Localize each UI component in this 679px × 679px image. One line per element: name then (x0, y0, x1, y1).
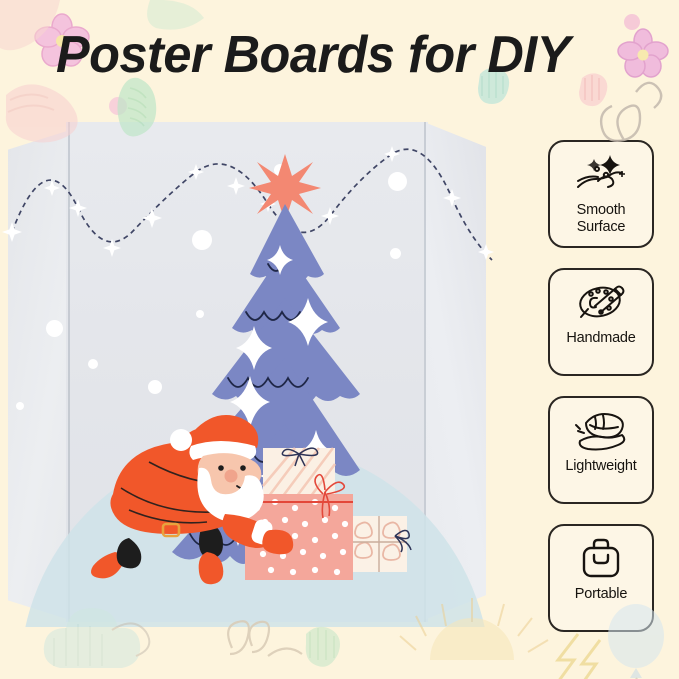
santa-arm (222, 514, 293, 554)
badge-portable[interactable]: Portable (548, 524, 654, 632)
paint-palette-icon (570, 279, 632, 325)
snowflake (16, 402, 24, 410)
gift-box-squiggle (351, 516, 411, 572)
feature-badges: SmoothSurface Handmade (548, 140, 658, 640)
santa-back-leg (91, 538, 141, 578)
badge-label: Lightweight (565, 458, 636, 475)
santa-claus (85, 402, 305, 602)
product-listing-image: Poster Boards for DIY (0, 0, 679, 679)
feather-hand-icon (570, 407, 632, 453)
badge-handmade[interactable]: Handmade (548, 268, 654, 376)
badge-label: Portable (575, 586, 627, 603)
badge-label: SmoothSurface (577, 202, 626, 236)
header: Poster Boards for DIY (0, 0, 679, 112)
briefcase-icon (570, 535, 632, 581)
badge-lightweight[interactable]: Lightweight (548, 396, 654, 504)
product-photo (0, 112, 540, 627)
sparkle-hand-icon (570, 151, 632, 197)
badge-label: Handmade (566, 330, 635, 347)
snowflake (88, 359, 98, 369)
lightning-doodle-bottom (558, 634, 600, 679)
green-scribble-bottom (306, 627, 340, 667)
page-title: Poster Boards for DIY (56, 24, 570, 86)
snowflake (46, 320, 63, 337)
badge-smooth-surface[interactable]: SmoothSurface (548, 140, 654, 248)
